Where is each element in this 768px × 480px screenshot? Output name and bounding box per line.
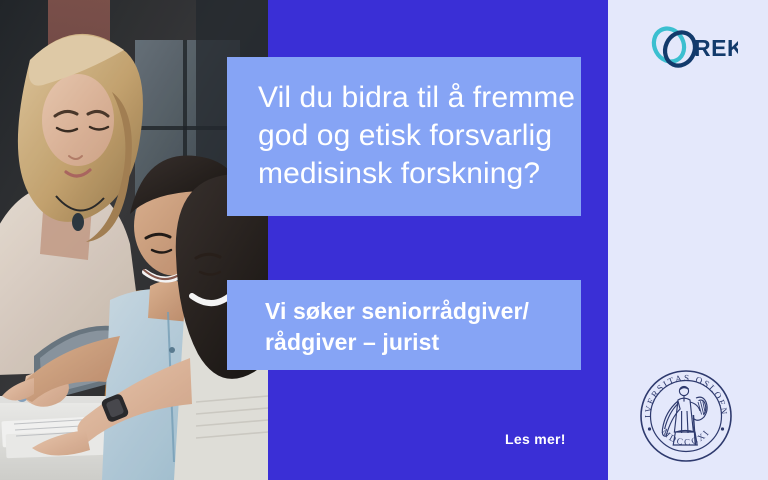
uio-seal-top-text: UNIVERSITAS OSLOENSIS <box>637 367 729 418</box>
uio-seal: UNIVERSITAS OSLOENSIS MDCCCXI <box>637 367 735 465</box>
job-advert-banner: Vil du bidra til å fremme god og etisk f… <box>0 0 768 480</box>
rek-wordmark-text: REK <box>694 35 738 61</box>
rek-logo: REK <box>648 24 738 70</box>
headline-line-1: Vil du bidra til å fremme <box>258 79 555 117</box>
job-title-box: Vi søker seniorrådgiver/ rådgiver – juri… <box>227 280 581 370</box>
job-title-line-1: Vi søker seniorrådgiver/ <box>265 296 561 327</box>
job-title-line-2: rådgiver – jurist <box>265 327 561 358</box>
headline-line-3: medisinsk forskning? <box>258 155 555 193</box>
headline-box: Vil du bidra til å fremme god og etisk f… <box>227 57 581 216</box>
read-more-link[interactable]: Les mer! <box>505 431 566 447</box>
headline-line-2: god og etisk forsvarlig <box>258 117 555 155</box>
